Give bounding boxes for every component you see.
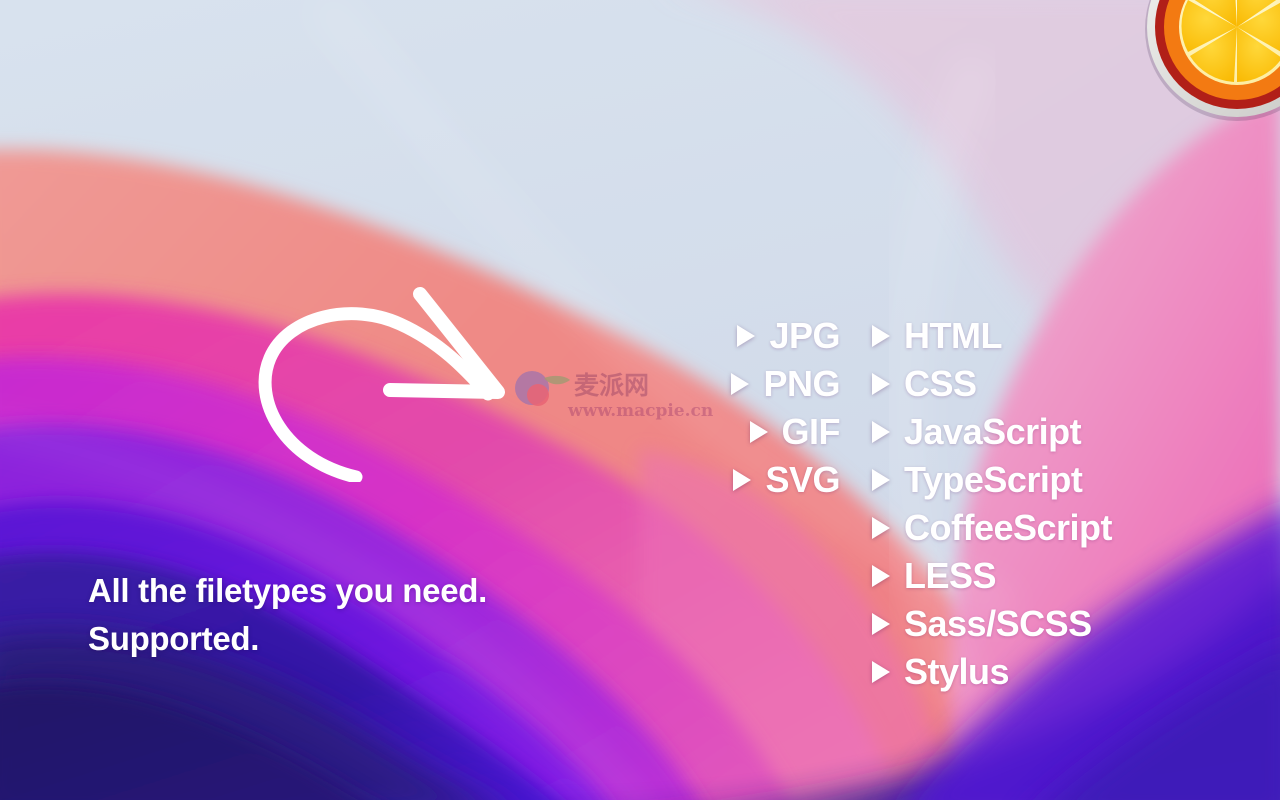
triangle-bullet-icon xyxy=(737,325,755,347)
filetype-label: JPG xyxy=(769,318,840,354)
filetype-item[interactable]: TypeScript xyxy=(872,456,1082,504)
filetype-label: GIF xyxy=(782,414,841,450)
filetype-label: LESS xyxy=(904,558,996,594)
curved-arrow-icon xyxy=(248,282,520,482)
filetype-label: PNG xyxy=(763,366,840,402)
triangle-bullet-icon xyxy=(872,517,890,539)
triangle-bullet-icon xyxy=(872,661,890,683)
triangle-bullet-icon xyxy=(872,613,890,635)
filetype-label: Sass/SCSS xyxy=(904,606,1092,642)
filetype-item[interactable]: LESS xyxy=(872,552,996,600)
triangle-bullet-icon xyxy=(872,565,890,587)
triangle-bullet-icon xyxy=(733,469,751,491)
filetype-item[interactable]: GIF xyxy=(750,408,841,456)
filetype-item[interactable]: JPG xyxy=(737,312,840,360)
filetype-item[interactable]: JavaScript xyxy=(872,408,1081,456)
filetype-item[interactable]: Sass/SCSS xyxy=(872,600,1092,648)
headline: All the filetypes you need. Supported. xyxy=(88,567,728,663)
filetype-label: CoffeeScript xyxy=(904,510,1112,546)
filetype-label: JavaScript xyxy=(904,414,1081,450)
headline-line-2: Supported. xyxy=(88,615,728,663)
triangle-bullet-icon xyxy=(872,421,890,443)
filetype-label: Stylus xyxy=(904,654,1009,690)
code-filetypes-column: HTML CSS JavaScript TypeScript CoffeeScr… xyxy=(872,312,1202,696)
filetype-item[interactable]: Stylus xyxy=(872,648,1009,696)
filetype-label: HTML xyxy=(904,318,1002,354)
filetype-label: CSS xyxy=(904,366,977,402)
filetype-label: TypeScript xyxy=(904,462,1082,498)
promo-screenshot: 麦派网 www.macpie.cn JPG PNG GIF SVG HTML C… xyxy=(0,0,1280,800)
image-filetypes-column: JPG PNG GIF SVG xyxy=(620,312,840,504)
triangle-bullet-icon xyxy=(872,373,890,395)
triangle-bullet-icon xyxy=(750,421,768,443)
filetype-item[interactable]: PNG xyxy=(731,360,840,408)
triangle-bullet-icon xyxy=(872,469,890,491)
headline-line-1: All the filetypes you need. xyxy=(88,567,728,615)
triangle-bullet-icon xyxy=(731,373,749,395)
filetype-item[interactable]: CoffeeScript xyxy=(872,504,1112,552)
filetype-item[interactable]: HTML xyxy=(872,312,1002,360)
filetype-item[interactable]: SVG xyxy=(733,456,840,504)
filetype-item[interactable]: CSS xyxy=(872,360,977,408)
triangle-bullet-icon xyxy=(872,325,890,347)
filetype-label: SVG xyxy=(765,462,840,498)
